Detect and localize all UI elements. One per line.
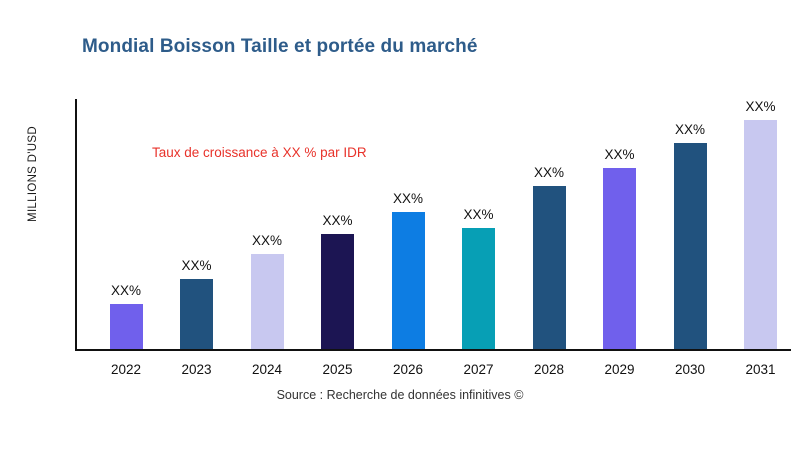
bar-value-label: XX% (745, 99, 775, 114)
bar-value-label: XX% (675, 122, 705, 137)
x-axis-tick-label: 2027 (463, 362, 493, 377)
bar[interactable] (251, 254, 284, 349)
bar-group: XX%2031 (744, 0, 777, 349)
bar[interactable] (744, 120, 777, 349)
bar-group: XX%2023 (180, 0, 213, 349)
growth-rate-annotation: Taux de croissance à XX % par IDR (152, 145, 367, 160)
x-axis-tick-label: 2031 (745, 362, 775, 377)
bar-group: XX%2025 (321, 0, 354, 349)
bar-group: XX%2026 (392, 0, 425, 349)
bar[interactable] (392, 212, 425, 349)
bar-group: XX%2028 (533, 0, 566, 349)
bar-group: XX%2022 (110, 0, 143, 349)
plot-area: XX%2022XX%2023XX%2024XX%2025XX%2026XX%20… (0, 0, 800, 450)
bar-group: XX%2027 (462, 0, 495, 349)
bar[interactable] (180, 279, 213, 349)
bar-value-label: XX% (252, 233, 282, 248)
x-axis-tick-label: 2030 (675, 362, 705, 377)
bar-value-label: XX% (463, 207, 493, 222)
x-axis-tick-label: 2024 (252, 362, 282, 377)
x-axis-tick-label: 2028 (534, 362, 564, 377)
bar[interactable] (321, 234, 354, 349)
x-axis-tick-label: 2022 (111, 362, 141, 377)
bar-group: XX%2030 (674, 0, 707, 349)
bar-value-label: XX% (604, 147, 634, 162)
x-axis-tick-label: 2029 (604, 362, 634, 377)
x-axis-tick-label: 2026 (393, 362, 423, 377)
bar-value-label: XX% (111, 283, 141, 298)
bar-value-label: XX% (181, 258, 211, 273)
bar-value-label: XX% (393, 191, 423, 206)
x-axis-tick-label: 2023 (181, 362, 211, 377)
x-axis-tick-label: 2025 (322, 362, 352, 377)
bar-value-label: XX% (322, 213, 352, 228)
bar[interactable] (533, 186, 566, 349)
bar[interactable] (110, 304, 143, 349)
bar-group: XX%2024 (251, 0, 284, 349)
bar[interactable] (603, 168, 636, 349)
chart-container: Mondial Boisson Taille et portée du marc… (0, 0, 800, 450)
bar[interactable] (674, 143, 707, 349)
bar[interactable] (462, 228, 495, 349)
bar-group: XX%2029 (603, 0, 636, 349)
source-caption: Source : Recherche de données infinitive… (0, 388, 800, 402)
bar-value-label: XX% (534, 165, 564, 180)
